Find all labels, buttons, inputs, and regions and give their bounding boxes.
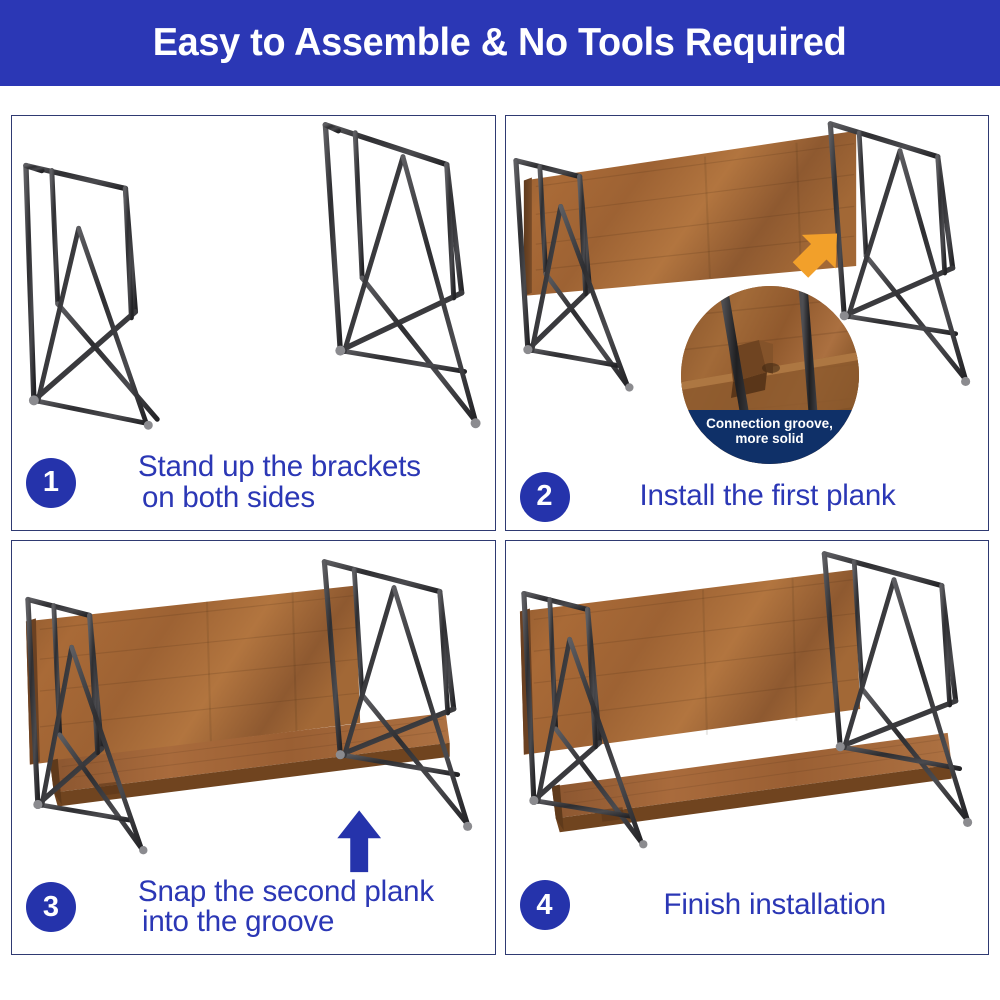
step-label-1-line-1: Stand up the brackets xyxy=(138,452,421,483)
steps-grid: 1 Stand up the brackets on both sides xyxy=(11,115,989,955)
infographic-page: Easy to Assemble & No Tools Required xyxy=(0,0,1000,1000)
step-caption-3: 3 Snap the second plank into the groove xyxy=(12,877,495,938)
step-label-3-line-1: Snap the second plank xyxy=(138,877,434,908)
step-panel-2: Connection groove, more solid 2 Install … xyxy=(505,115,990,531)
step-label-3: Snap the second plank into the groove xyxy=(90,877,434,938)
step-caption-2: 2 Install the first plank xyxy=(506,472,989,522)
step-label-1-line-2: on both sides xyxy=(138,483,421,514)
step-panel-3: 3 Snap the second plank into the groove xyxy=(11,540,496,956)
inset-caption: Connection groove, more solid xyxy=(681,410,859,464)
step-badge-2: 2 xyxy=(520,472,570,522)
step-panel-4: 4 Finish installation xyxy=(505,540,990,956)
step-label-2: Install the first plank xyxy=(584,481,896,512)
zoom-inset-connection-groove: Connection groove, more solid xyxy=(681,286,859,464)
step-label-4-line-1: Finish installation xyxy=(664,890,886,921)
inset-caption-line-2: more solid xyxy=(681,432,859,447)
page-title: Easy to Assemble & No Tools Required xyxy=(153,21,847,65)
step-label-4: Finish installation xyxy=(584,890,886,921)
step-panel-1: 1 Stand up the brackets on both sides xyxy=(11,115,496,531)
step-caption-4: 4 Finish installation xyxy=(506,880,989,930)
step-badge-3: 3 xyxy=(26,882,76,932)
inset-caption-line-1: Connection groove, xyxy=(681,417,859,432)
blue-arrow-shape xyxy=(337,810,381,872)
step-label-1: Stand up the brackets on both sides xyxy=(90,452,421,513)
step-label-2-line-1: Install the first plank xyxy=(640,481,896,512)
header-banner: Easy to Assemble & No Tools Required xyxy=(0,0,1000,86)
step-label-3-line-2: into the groove xyxy=(138,907,434,938)
step-badge-4: 4 xyxy=(520,880,570,930)
step-badge-1: 1 xyxy=(26,458,76,508)
step-caption-1: 1 Stand up the brackets on both sides xyxy=(12,452,495,513)
